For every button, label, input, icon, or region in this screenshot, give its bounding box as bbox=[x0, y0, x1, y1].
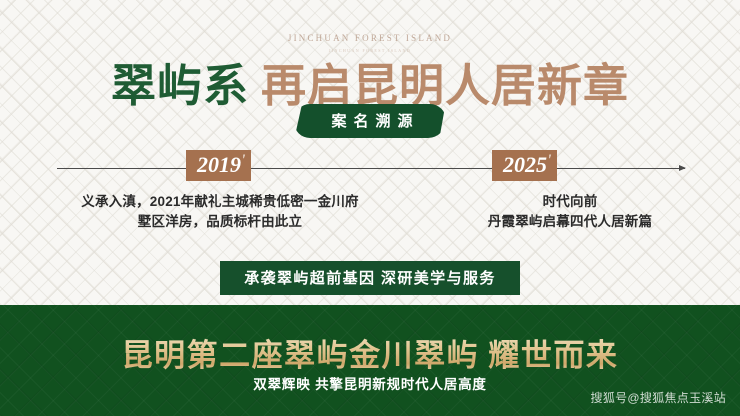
promo-poster: JINCHUAN FOREST ISLAND JINCHUAN FOREST I… bbox=[0, 0, 740, 416]
timeline-caption-2019: 义承入滇，2021年献礼主城稀贵低密一金川府 墅区洋房，品质标杆由此立 bbox=[48, 192, 392, 232]
timeline-caption-2025-line1: 时代向前 bbox=[420, 192, 720, 212]
timeline-axis bbox=[57, 168, 685, 169]
timeline-year-tick-2025: ' bbox=[547, 152, 551, 170]
section-banner-wrap: 案名溯源 bbox=[0, 104, 740, 138]
highlight-strip-wrap: 承袭翠屿超前基因 深研美学与服务 bbox=[0, 261, 740, 295]
timeline-caption-2025-line2: 丹霞翠屿启幕四代人居新篇 bbox=[420, 212, 720, 232]
footer-panel: 昆明第二座翠屿金川翠屿 耀世而来 双翠辉映 共擎昆明新规时代人居高度 搜狐号@搜… bbox=[0, 305, 740, 416]
brand-name-en: JINCHUAN FOREST ISLAND bbox=[288, 33, 452, 43]
timeline-caption-2019-line2: 墅区洋房，品质标杆由此立 bbox=[48, 212, 392, 232]
watermark-label: 搜狐号@搜狐焦点玉溪站 bbox=[591, 389, 726, 406]
section-banner-label: 案名溯源 bbox=[294, 104, 445, 138]
timeline-caption-2025: 时代向前 丹霞翠屿启幕四代人居新篇 bbox=[420, 192, 720, 232]
timeline-caption-2019-line1: 义承入滇，2021年献礼主城稀贵低密一金川府 bbox=[48, 192, 392, 212]
timeline-year-tick-2019: ' bbox=[241, 152, 245, 170]
highlight-strip-label: 承袭翠屿超前基因 深研美学与服务 bbox=[220, 261, 520, 295]
footer-title: 昆明第二座翠屿金川翠屿 耀世而来 bbox=[0, 330, 740, 375]
arrow-right-icon bbox=[679, 165, 686, 171]
